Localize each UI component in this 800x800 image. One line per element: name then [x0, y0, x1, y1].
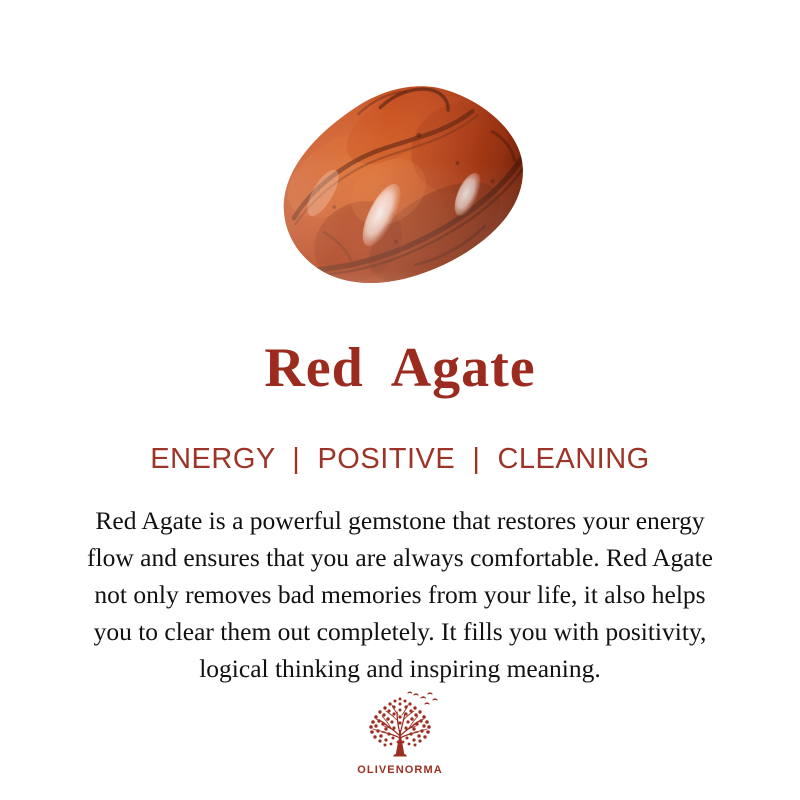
brand-logo: OLIVENORMA	[335, 690, 465, 776]
description-line: flow and ensures that you are always com…	[22, 539, 778, 576]
gemstone-surface-detail	[245, 41, 556, 331]
description-line: you to clear them out completely. It fil…	[22, 613, 778, 650]
keyword-line: ENERGY | POSITIVE | CLEANING	[0, 442, 800, 476]
page-title: Red Agate	[0, 337, 800, 399]
gemstone-illustration	[245, 41, 556, 331]
product-description: Red Agate is a powerful gemstone that re…	[22, 502, 778, 687]
bird-icon	[408, 692, 437, 704]
description-line: logical thinking and inspiring meaning.	[22, 650, 778, 687]
tree-of-life-icon	[358, 690, 442, 762]
description-line: Red Agate is a powerful gemstone that re…	[22, 502, 778, 539]
gemstone-image	[0, 0, 800, 320]
description-line: not only removes bad memories from your …	[22, 576, 778, 613]
brand-name: OLIVENORMA	[335, 764, 465, 776]
product-info-card: Red Agate ENERGY | POSITIVE | CLEANING R…	[0, 0, 800, 800]
gemstone-rotation-wrapper	[245, 41, 556, 331]
